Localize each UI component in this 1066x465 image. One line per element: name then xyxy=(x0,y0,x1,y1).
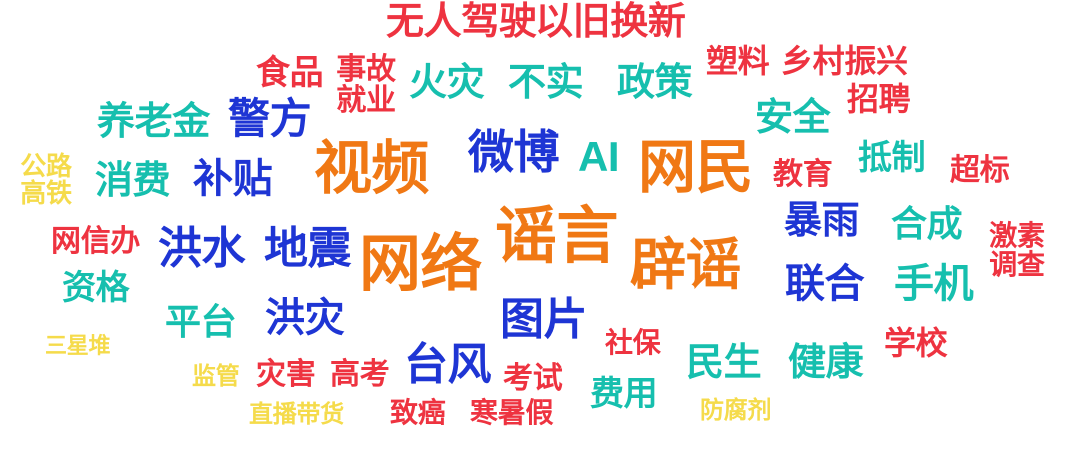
cloud-word: 网民 xyxy=(638,140,753,195)
cloud-word: 以旧换新 xyxy=(535,4,685,40)
cloud-word: 抵制 xyxy=(858,142,925,174)
cloud-word: 警方 xyxy=(228,99,311,139)
cloud-word-line: 高铁 xyxy=(18,180,74,207)
cloud-word: 合成 xyxy=(891,207,962,241)
cloud-word: 洪灾 xyxy=(265,299,344,337)
cloud-word: 不实 xyxy=(508,65,583,101)
cloud-word: 社保 xyxy=(605,330,660,357)
cloud-word: 辟谣 xyxy=(630,238,741,291)
cloud-word: 暴雨 xyxy=(784,203,859,239)
cloud-word: 乡村振兴 xyxy=(781,46,908,76)
cloud-word: 防腐剂 xyxy=(700,400,771,423)
cloud-word-line: 调查 xyxy=(984,251,1050,280)
cloud-word: 监管 xyxy=(192,366,240,389)
cloud-word: 补贴 xyxy=(193,160,272,198)
cloud-word: 健康 xyxy=(788,345,863,381)
cloud-word: 寒暑假 xyxy=(470,400,553,427)
cloud-word: 致癌 xyxy=(390,400,445,427)
cloud-word: 学校 xyxy=(884,328,947,358)
cloud-word: 考试 xyxy=(503,365,562,394)
cloud-word: 政策 xyxy=(617,65,692,101)
cloud-word: 激素调查 xyxy=(984,222,1050,279)
cloud-word: 台风 xyxy=(404,344,491,386)
cloud-word: 平台 xyxy=(165,305,236,339)
cloud-word: 招聘 xyxy=(847,84,910,114)
cloud-word: 教育 xyxy=(773,161,832,190)
cloud-word: 高考 xyxy=(330,361,389,390)
cloud-word: 超标 xyxy=(950,157,1009,186)
cloud-word: 谣言 xyxy=(495,208,618,267)
cloud-word: 养老金 xyxy=(97,104,210,140)
cloud-word: 手机 xyxy=(894,265,973,303)
cloud-word: 直播带货 xyxy=(249,404,344,427)
cloud-word: 塑料 xyxy=(706,46,769,76)
cloud-word: 图片 xyxy=(500,299,587,341)
cloud-word-line: 激素 xyxy=(984,222,1050,251)
cloud-word: 费用 xyxy=(590,378,657,410)
cloud-word: 消费 xyxy=(95,163,170,199)
cloud-word: 无人驾驶 xyxy=(386,4,536,40)
cloud-word: 安全 xyxy=(755,100,830,136)
cloud-word: 地震 xyxy=(264,228,351,270)
cloud-word: 灾害 xyxy=(256,361,315,390)
cloud-word-line: 事故 xyxy=(334,55,398,86)
cloud-word-line: 公路 xyxy=(18,153,74,180)
cloud-word: 民生 xyxy=(686,345,761,381)
cloud-word: 网络 xyxy=(359,236,482,295)
cloud-word: 三星堆 xyxy=(45,336,110,357)
cloud-word: 洪水 xyxy=(158,228,245,270)
cloud-word: 微博 xyxy=(468,131,559,175)
cloud-word-line: 就业 xyxy=(334,86,398,117)
cloud-word: 联合 xyxy=(785,265,864,303)
cloud-word: 公路高铁 xyxy=(18,153,74,206)
cloud-word: 事故就业 xyxy=(334,55,398,116)
cloud-word: 视频 xyxy=(314,141,429,196)
cloud-word: AI xyxy=(578,137,619,177)
cloud-word: 食品 xyxy=(256,57,323,89)
word-cloud-canvas: 无人驾驶以旧换新食品事故就业火灾不实政策塑料乡村振兴招聘养老金警方安全公路高铁消… xyxy=(0,0,1066,465)
cloud-word: 资格 xyxy=(62,272,129,304)
cloud-word: 网信办 xyxy=(51,228,140,257)
cloud-word: 火灾 xyxy=(409,65,484,101)
